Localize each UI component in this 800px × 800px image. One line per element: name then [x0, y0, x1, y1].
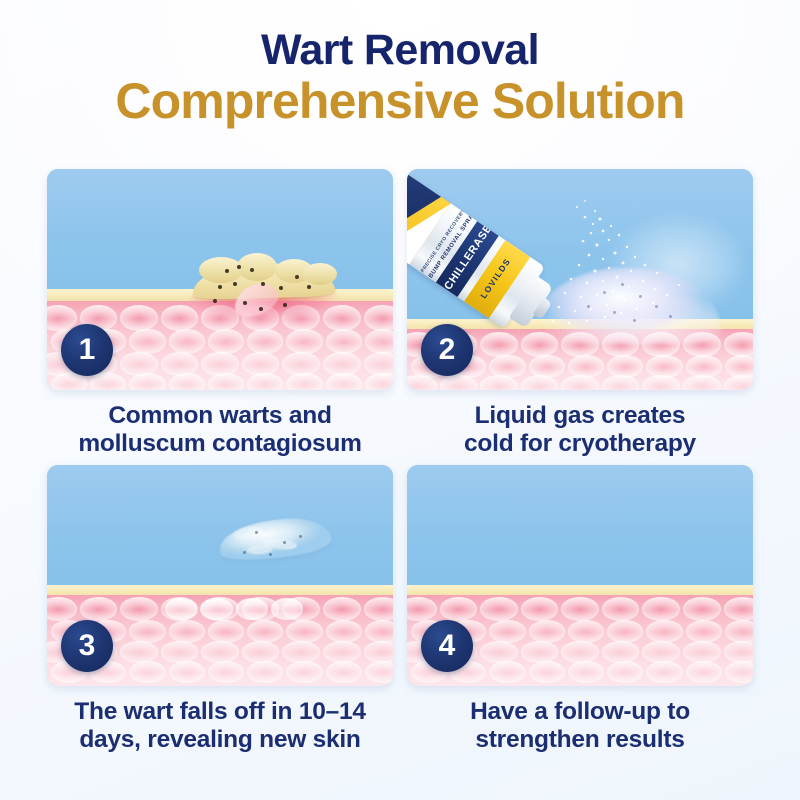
step-card-4: 4 Have a follow-up to strengthen results: [407, 465, 753, 755]
header: Wart Removal Comprehensive Solution: [0, 26, 800, 129]
skin-cell: [120, 641, 158, 663]
skin-cell: [561, 641, 599, 663]
skin-cell: [480, 641, 518, 663]
skin-cell: [521, 597, 559, 621]
skin-cell: [568, 620, 604, 643]
skin-cell: [407, 597, 437, 621]
skin-cell: [480, 597, 518, 621]
step-4-illustration: 4: [407, 465, 753, 686]
capillary-dot: [259, 307, 263, 311]
frost-speck: [633, 319, 636, 322]
skin-cell: [364, 641, 394, 663]
capillary-dot: [307, 285, 311, 289]
capillary-dot: [218, 285, 222, 289]
caption-line: Have a follow-up to: [407, 698, 753, 726]
skin-cell: [568, 661, 604, 683]
wart-lobe: [237, 253, 277, 281]
new-skin-cell: [271, 598, 303, 620]
skin-cell: [561, 597, 599, 621]
skin-cell: [642, 597, 680, 621]
skin-cell: [129, 661, 165, 683]
frost-speck: [655, 305, 658, 308]
skin-cell: [686, 661, 722, 683]
skin-cell: [247, 661, 283, 683]
skin-cell: [323, 597, 361, 621]
skin-cell: [725, 661, 753, 683]
frost-speck: [621, 283, 624, 286]
skin-cell: [47, 597, 77, 621]
skin-cell: [646, 620, 682, 643]
caption-line: cold for cryotherapy: [407, 430, 753, 458]
frost-speck: [587, 305, 590, 308]
skin-cell: [686, 620, 722, 643]
step-card-2: LOVILDS CHILLERASE BUMP REMOVAL SPRAY PR…: [407, 169, 753, 459]
capillary-dot: [225, 269, 229, 273]
capillary-dot: [283, 303, 287, 307]
capillary-dot: [295, 275, 299, 279]
skin-cell: [724, 597, 754, 621]
cell-row: [407, 597, 753, 621]
skin-cell: [725, 620, 753, 643]
skin-cell: [208, 661, 244, 683]
skin-cell: [489, 620, 525, 643]
new-skin-cell: [165, 598, 197, 620]
skin-cell: [326, 661, 362, 683]
capillary-dot: [261, 282, 265, 286]
skin-cell: [208, 620, 244, 643]
skin-cell: [286, 661, 322, 683]
wart-lobe: [199, 257, 243, 283]
skin-cell: [440, 597, 478, 621]
skin-cell: [365, 661, 393, 683]
capillary-dot: [279, 286, 283, 290]
capillary-dot: [243, 301, 247, 305]
step-number-badge: 2: [421, 324, 473, 376]
wart-lobe: [303, 263, 337, 285]
steps-grid: 1 Common warts and molluscum contagiosum: [47, 169, 753, 755]
step-3-caption: The wart falls off in 10–14 days, reveal…: [47, 698, 393, 755]
skin-cell: [80, 597, 118, 621]
infographic-page: Wart Removal Comprehensive Solution: [0, 0, 800, 800]
scab-speck: [255, 531, 258, 534]
skin-cell: [169, 661, 205, 683]
skin-cell: [242, 641, 280, 663]
caption-line: Common warts and: [47, 402, 393, 430]
step-4-caption: Have a follow-up to strengthen results: [407, 698, 753, 755]
frost-speck: [639, 295, 642, 298]
skin-cell: [365, 620, 393, 643]
step-3-illustration: 3: [47, 465, 393, 686]
skin-cell: [201, 641, 239, 663]
skin-cell: [724, 641, 754, 663]
skin-cell: [607, 620, 643, 643]
skin-cell: [169, 620, 205, 643]
scab-speck: [269, 553, 272, 556]
skin-cell: [120, 597, 158, 621]
caption-line: The wart falls off in 10–14: [47, 698, 393, 726]
frost-speck: [613, 311, 616, 314]
step-number-badge: 1: [61, 324, 113, 376]
skin-cell: [282, 641, 320, 663]
step-number-badge: 3: [61, 620, 113, 672]
scab-speck: [283, 541, 286, 544]
scab-speck: [299, 535, 302, 538]
new-skin-cell: [236, 598, 268, 620]
skin-cell: [286, 620, 322, 643]
skin-cell: [247, 620, 283, 643]
air-region: [47, 465, 393, 589]
new-skin-cell: [200, 598, 232, 620]
page-title-secondary: Comprehensive Solution: [0, 73, 800, 129]
capillary-dot: [237, 265, 241, 269]
new-skin-row: [165, 598, 303, 620]
skin-cell: [646, 661, 682, 683]
scab-speck: [243, 551, 246, 554]
step-number-badge: 4: [421, 620, 473, 672]
caption-line: strengthen results: [407, 726, 753, 754]
skin-cell: [602, 641, 640, 663]
step-card-1: 1 Common warts and molluscum contagiosum: [47, 169, 393, 459]
air-region: [407, 465, 753, 589]
skin-cell: [602, 597, 640, 621]
capillary-dot: [233, 282, 237, 286]
step-2-caption: Liquid gas creates cold for cryotherapy: [407, 402, 753, 459]
caption-line: Liquid gas creates: [407, 402, 753, 430]
skin-cell: [364, 597, 394, 621]
step-2-illustration: LOVILDS CHILLERASE BUMP REMOVAL SPRAY PR…: [407, 169, 753, 390]
step-card-3: 3 The wart falls off in 10–14 days, reve…: [47, 465, 393, 755]
skin-cell: [521, 641, 559, 663]
skin-cell: [161, 641, 199, 663]
skin-cell: [683, 597, 721, 621]
frost-speck: [669, 315, 672, 318]
step-1-illustration: 1: [47, 169, 393, 390]
skin-cell: [489, 661, 525, 683]
skin-cell: [529, 620, 565, 643]
capillary-dot: [250, 268, 254, 272]
capillary-dot: [213, 299, 217, 303]
skin-cell: [642, 641, 680, 663]
skin-cell: [683, 641, 721, 663]
step-1-caption: Common warts and molluscum contagiosum: [47, 402, 393, 459]
caption-line: molluscum contagiosum: [47, 430, 393, 458]
skin-cell: [607, 661, 643, 683]
frost-speck: [603, 291, 606, 294]
page-title-primary: Wart Removal: [0, 26, 800, 74]
skin-cell: [323, 641, 361, 663]
skin-cell: [129, 620, 165, 643]
skin-cell: [529, 661, 565, 683]
caption-line: days, revealing new skin: [47, 726, 393, 754]
skin-cell: [326, 620, 362, 643]
